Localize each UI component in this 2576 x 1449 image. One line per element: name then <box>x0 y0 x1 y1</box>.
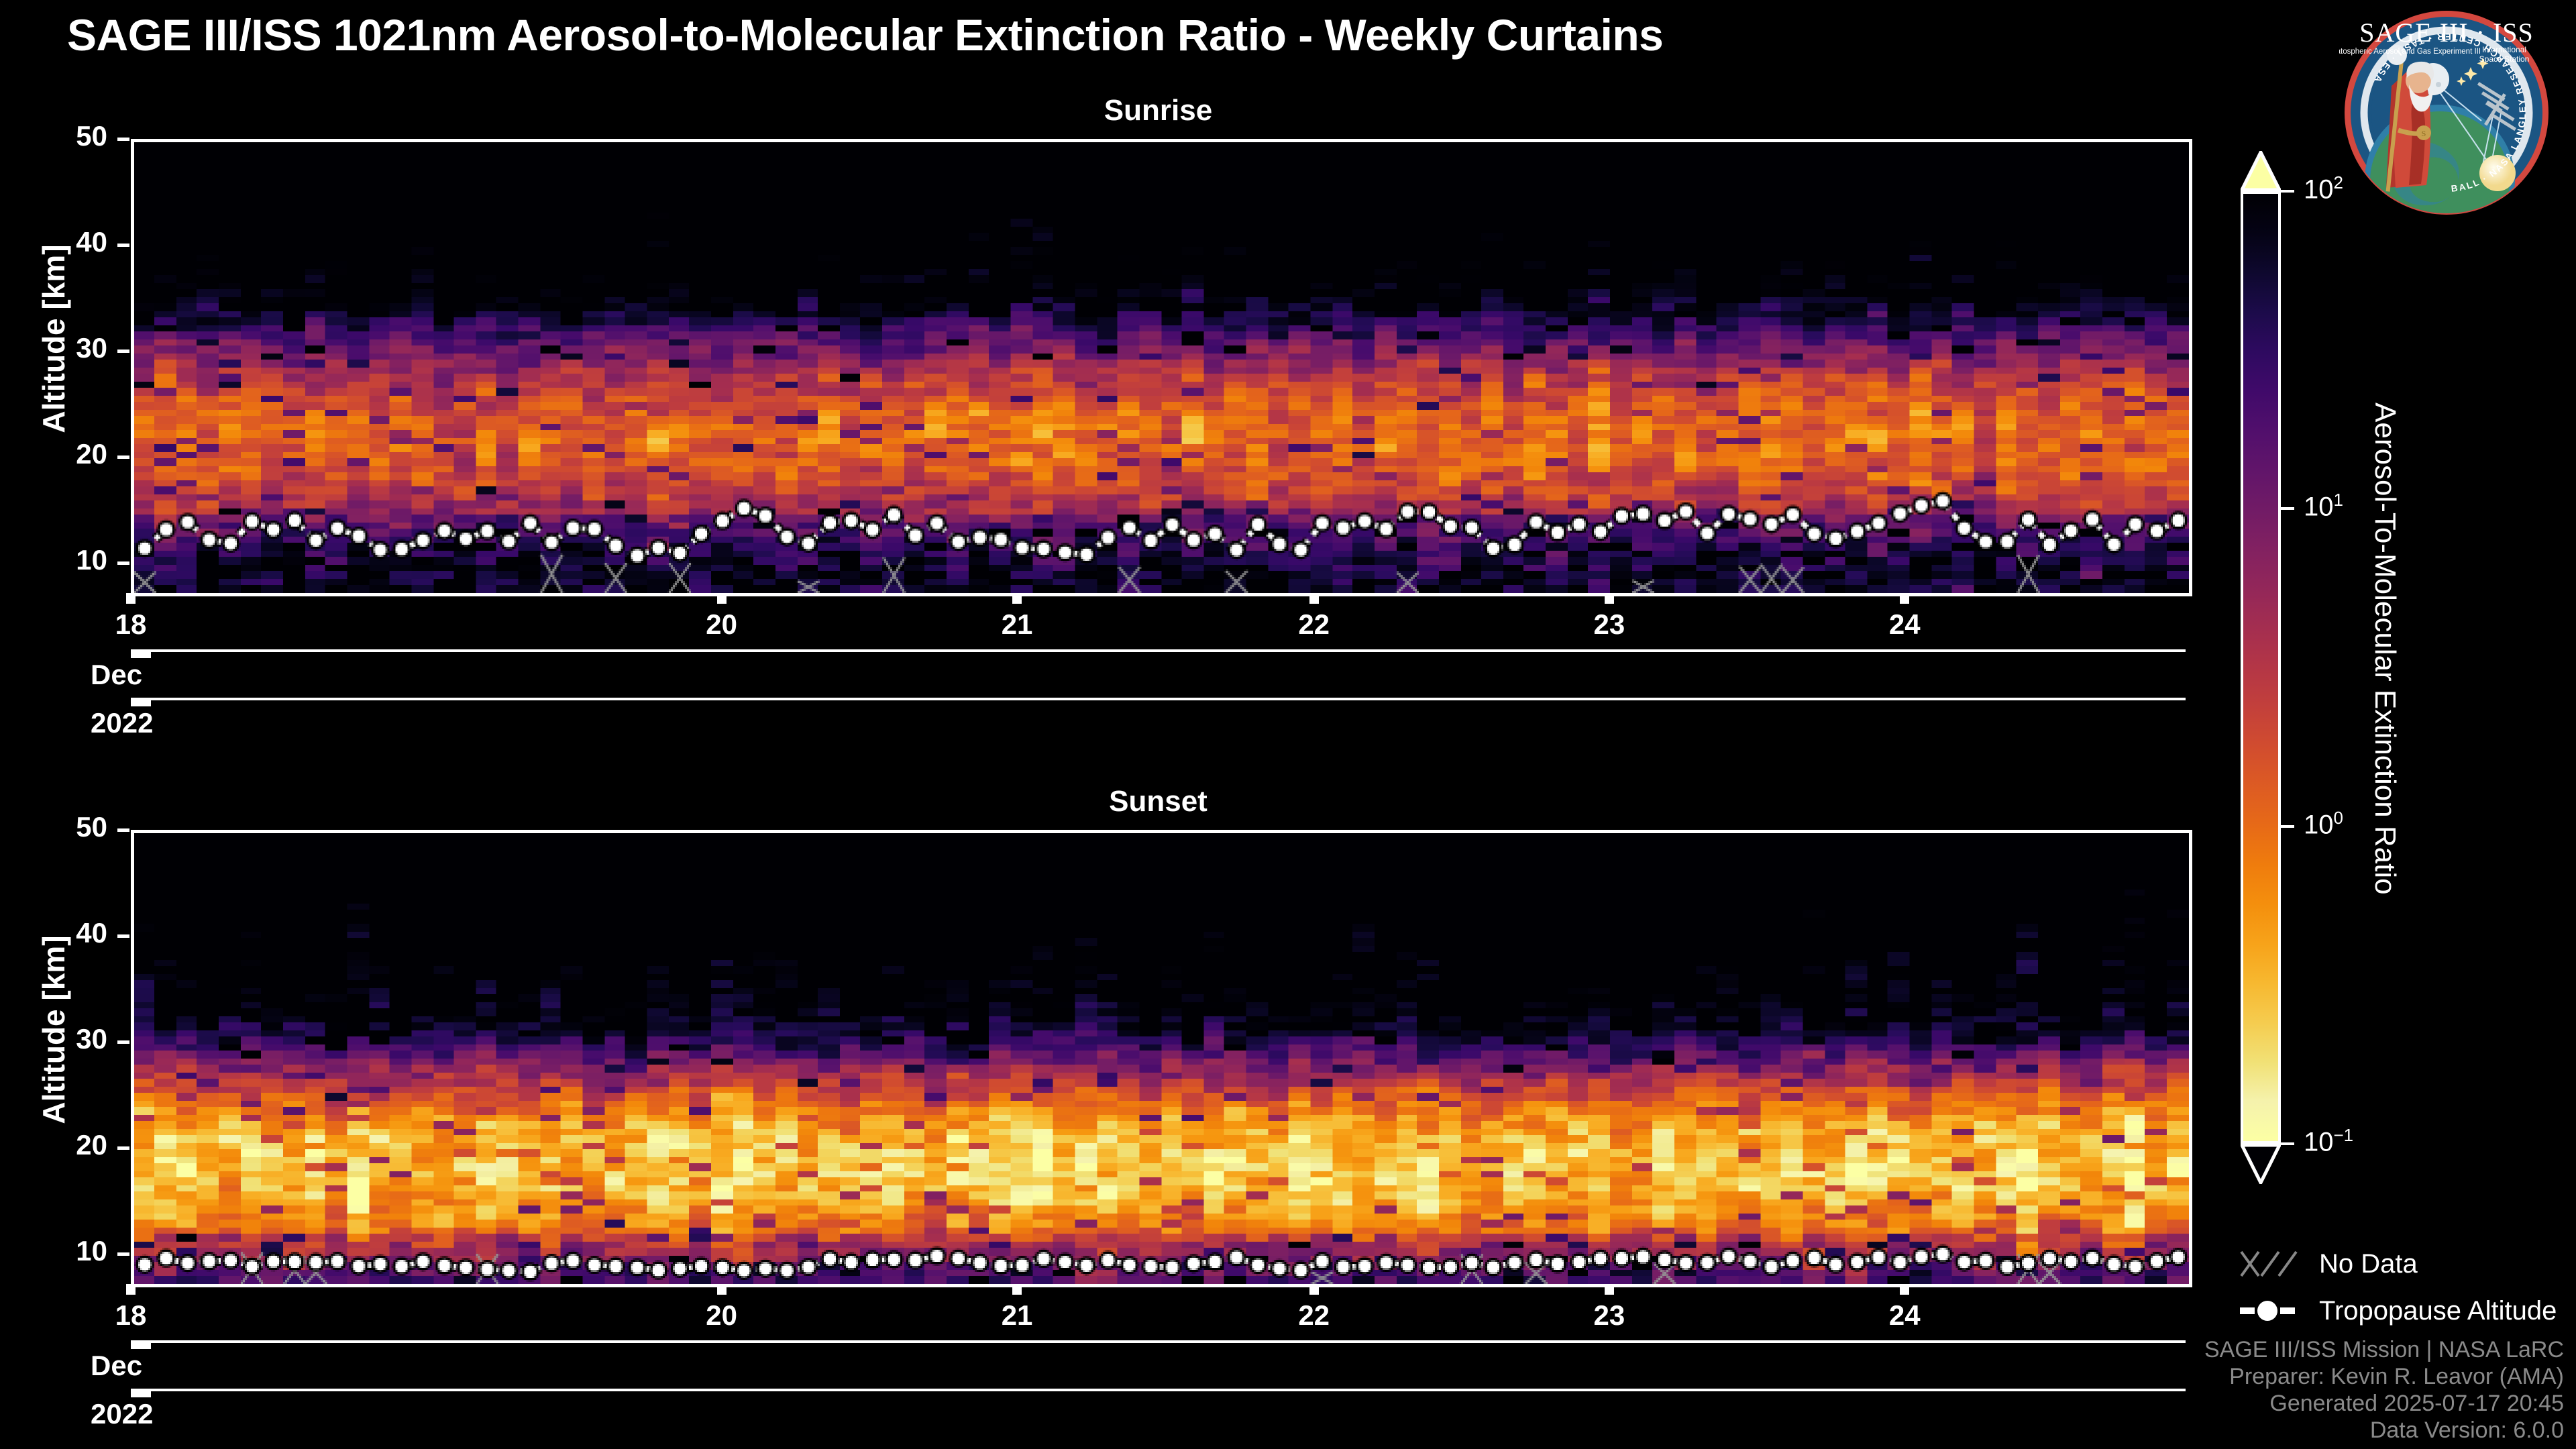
footer-line-preparer: Preparer: Kevin R. Leavor (AMA) <box>2204 1363 2564 1390</box>
colorbar-tick-label: 102 <box>2304 172 2343 205</box>
y-tick-label: 50 <box>0 120 107 152</box>
x-tick-mark <box>1900 593 1909 604</box>
y-tick-mark <box>117 1252 129 1256</box>
colorbar-tick-label: 10−1 <box>2304 1125 2353 1157</box>
colorbar-tick-mark <box>2281 825 2294 828</box>
date-axis-rule <box>131 649 2186 652</box>
x-tick-label: 18 <box>70 608 191 641</box>
x-tick-label: 23 <box>1549 1299 1670 1332</box>
date-axis-label-dec: Dec <box>91 659 142 691</box>
y-tick-label: 20 <box>0 438 107 470</box>
y-tick-label: 40 <box>0 917 107 949</box>
y-tick-mark <box>117 244 129 247</box>
panel-sunset: Sunset Altitude [km] 1020304050182021222… <box>0 724 2576 1449</box>
y-tick-mark <box>117 1040 129 1044</box>
x-tick-mark <box>1309 1284 1319 1295</box>
x-tick-mark <box>1012 593 1022 604</box>
heatmap-canvas-sunset <box>134 833 2189 1284</box>
x-tick-label: 24 <box>1844 608 1965 641</box>
date-axis-rule-tick <box>131 698 151 706</box>
y-tick-mark <box>117 561 129 565</box>
colorbar-tick-mark <box>2281 507 2294 510</box>
y-tick-label: 50 <box>0 811 107 843</box>
footer-line-version: Data Version: 6.0.0 <box>2204 1417 2564 1444</box>
date-axis-rule <box>131 1340 2186 1343</box>
x-tick-label: 22 <box>1254 608 1375 641</box>
x-tick-label: 21 <box>957 1299 1077 1332</box>
colorbar-tick-label: 101 <box>2304 490 2343 522</box>
tropopause-line-marker-icon <box>2239 1295 2306 1327</box>
x-tick-label: 20 <box>661 1299 782 1332</box>
legend-item-no-data[interactable]: No Data <box>2239 1248 2574 1285</box>
y-tick-label: 40 <box>0 226 107 258</box>
y-tick-label: 10 <box>0 544 107 576</box>
y-tick-mark <box>117 1146 129 1150</box>
heatmap-sunrise[interactable] <box>131 139 2192 596</box>
x-tick-label: 24 <box>1844 1299 1965 1332</box>
date-axis-rule-tick <box>131 1340 151 1349</box>
colorbar-title: Aerosol-To-Molecular Extinction Ratio <box>2368 402 2402 895</box>
panel-sunrise: Sunrise Altitude [km] 102030405018202122… <box>0 0 2576 724</box>
date-axis-rule-tick <box>131 649 151 658</box>
date-axis-rule <box>131 1389 2186 1391</box>
y-tick-label: 10 <box>0 1235 107 1267</box>
colorbar-tick-label: 100 <box>2304 808 2343 840</box>
y-tick-mark <box>117 828 129 832</box>
x-tick-mark <box>717 593 727 604</box>
y-tick-label: 30 <box>0 332 107 364</box>
no-data-hatch-icon <box>2239 1248 2306 1280</box>
x-tick-label: 23 <box>1549 608 1670 641</box>
legend-label-no-data: No Data <box>2319 1249 2418 1279</box>
x-tick-label: 21 <box>957 608 1077 641</box>
colorbar-tick-mark <box>2281 190 2294 193</box>
colorbar: 10210110010−1 Aerosol-To-Molecular Extin… <box>2234 80 2569 1154</box>
x-tick-mark <box>717 1284 727 1295</box>
footer-line-mission: SAGE III/ISS Mission | NASA LaRC <box>2204 1336 2564 1363</box>
panel-title-sunrise: Sunrise <box>131 94 2186 127</box>
y-tick-mark <box>117 138 129 141</box>
y-tick-label: 20 <box>0 1129 107 1161</box>
heatmap-sunset[interactable] <box>131 830 2192 1287</box>
y-tick-mark <box>117 350 129 353</box>
x-tick-label: 22 <box>1254 1299 1375 1332</box>
x-tick-mark <box>1309 593 1319 604</box>
y-tick-mark <box>117 455 129 459</box>
y-tick-mark <box>117 934 129 938</box>
x-tick-label: 20 <box>661 608 782 641</box>
date-axis-rule <box>131 698 2186 700</box>
colorbar-extend-top-arrow <box>2241 151 2281 191</box>
colorbar-tick-mark <box>2281 1142 2294 1145</box>
date-axis-rule-tick <box>131 1389 151 1397</box>
x-tick-mark <box>1605 593 1614 604</box>
y-tick-label: 30 <box>0 1023 107 1055</box>
footer-credits: SAGE III/ISS Mission | NASA LaRC Prepare… <box>2204 1336 2564 1444</box>
colorbar-extend-bottom-arrow <box>2241 1144 2281 1184</box>
x-tick-label: 18 <box>70 1299 191 1332</box>
x-tick-mark <box>126 593 136 604</box>
date-axis-label-dec: Dec <box>91 1350 142 1382</box>
date-axis-label-2022: 2022 <box>91 1398 153 1430</box>
x-tick-mark <box>126 1284 136 1295</box>
x-tick-mark <box>1605 1284 1614 1295</box>
footer-line-generated: Generated 2025-07-17 20:45 <box>2204 1390 2564 1417</box>
legend: No Data Tropopause Altitude <box>2239 1248 2574 1342</box>
x-tick-mark <box>1012 1284 1022 1295</box>
legend-item-tropopause[interactable]: Tropopause Altitude <box>2239 1295 2574 1332</box>
colorbar-gradient <box>2241 191 2281 1144</box>
x-tick-mark <box>1900 1284 1909 1295</box>
heatmap-canvas-sunrise <box>134 142 2189 593</box>
panel-title-sunset: Sunset <box>131 785 2186 818</box>
legend-label-tropopause: Tropopause Altitude <box>2319 1296 2557 1326</box>
